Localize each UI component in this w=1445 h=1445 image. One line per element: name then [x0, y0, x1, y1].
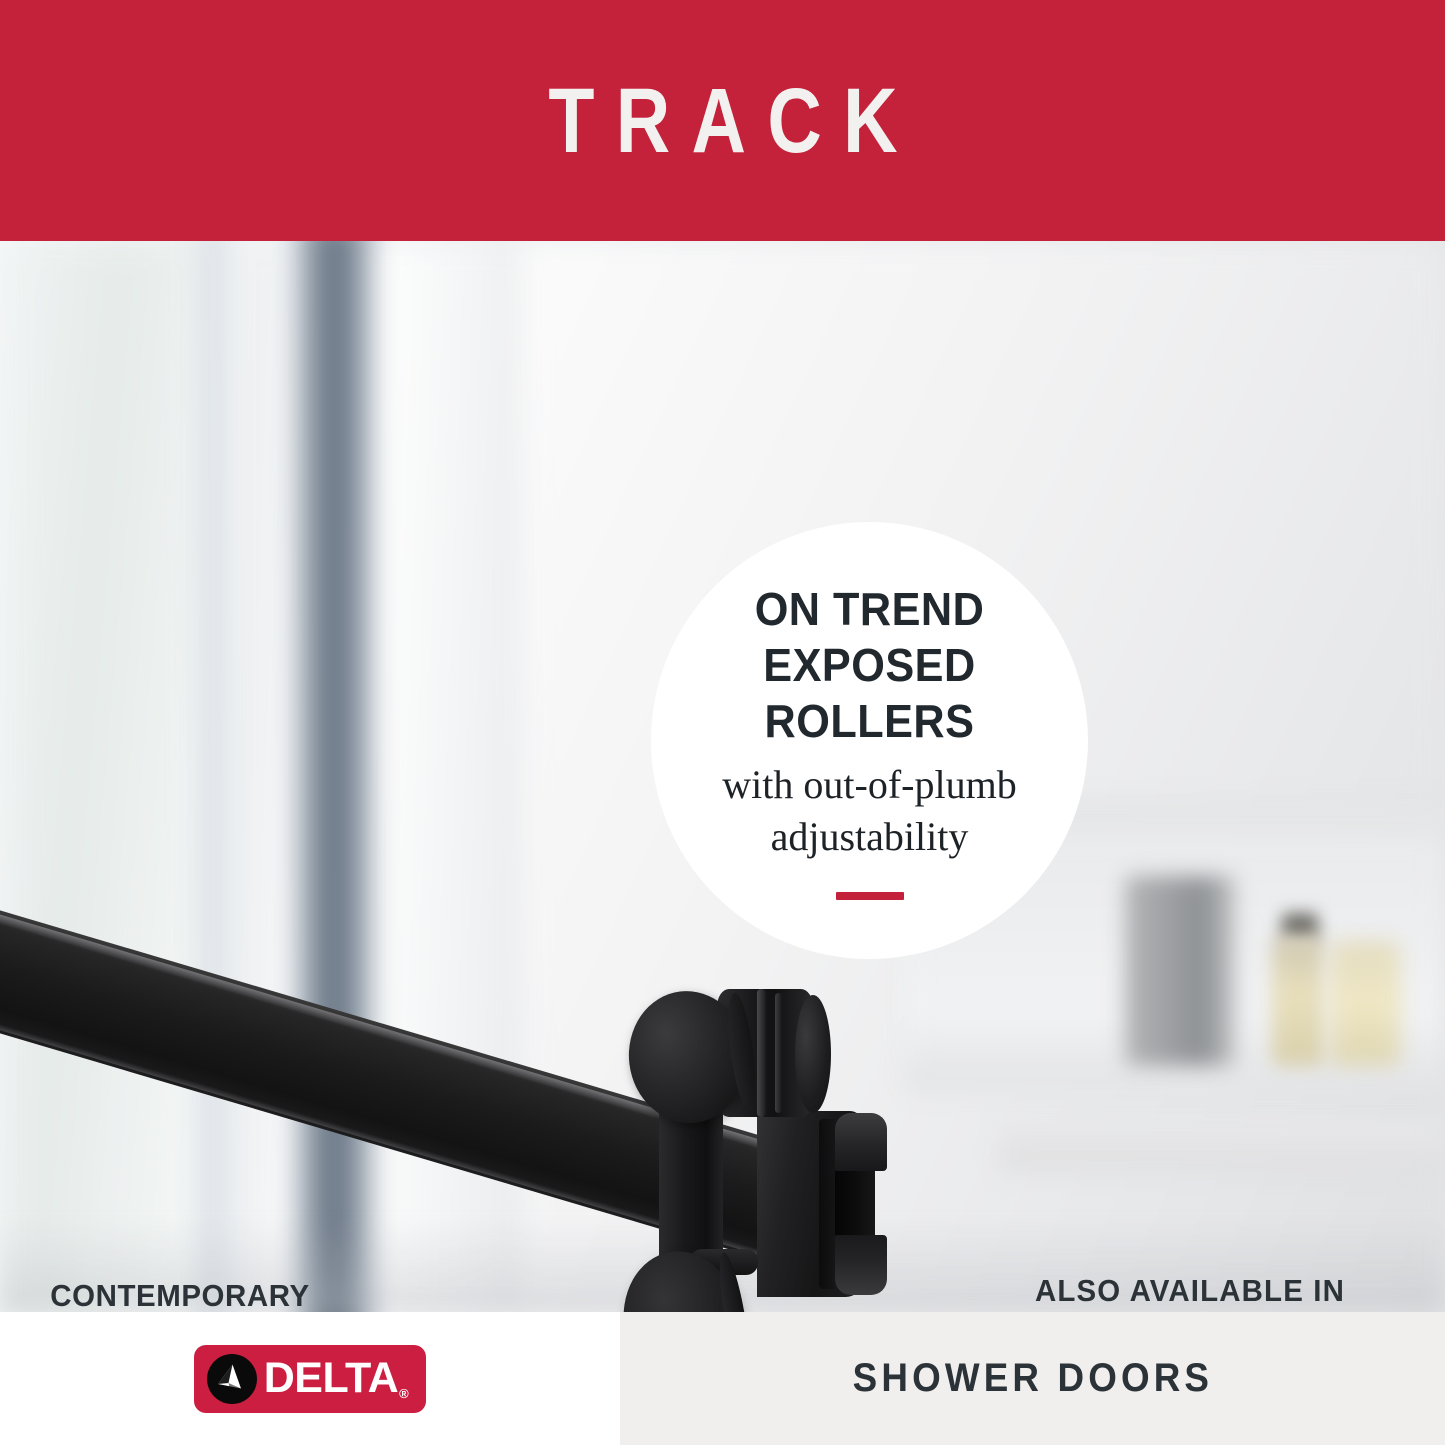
header-band: TRACK	[0, 0, 1445, 241]
track-channel-lip-bottom	[835, 1235, 887, 1295]
callout-subtext-line2: adjustability	[722, 811, 1016, 862]
callout-headline: ON TREND EXPOSED ROLLERS	[700, 581, 1039, 749]
product-card: TRACK	[0, 0, 1445, 1445]
footer: DELTA® SHOWER DOORS	[0, 1312, 1445, 1445]
footer-brand-area: DELTA®	[0, 1312, 620, 1445]
background-counter	[1000, 1121, 1445, 1171]
delta-registered-mark: ®	[399, 1386, 408, 1401]
callout-headline-line1: ON TREND	[700, 581, 1039, 637]
product-caption-line1: CONTEMPORARY	[42, 1276, 318, 1312]
track-channel-end	[757, 1111, 905, 1297]
track-channel-lip-top	[835, 1113, 887, 1171]
roller-hub-ring-outer	[757, 989, 766, 1117]
footer-tagline-area: SHOWER DOORS	[620, 1312, 1445, 1445]
callout-headline-line2: EXPOSED ROLLERS	[700, 637, 1039, 749]
finish-options-title: ALSO AVAILABLE IN	[972, 1273, 1409, 1309]
product-photo: ON TREND EXPOSED ROLLERS with out-of-plu…	[0, 241, 1445, 1312]
delta-wordmark: DELTA®	[264, 1357, 409, 1400]
delta-wordmark-text: DELTA	[264, 1354, 398, 1402]
page-title: TRACK	[527, 75, 919, 167]
background-bottle-b	[1330, 941, 1400, 1066]
finish-options: ALSO AVAILABLE IN CHROME BRUSHED NICKEL …	[960, 1273, 1420, 1312]
delta-logo[interactable]: DELTA®	[194, 1345, 427, 1413]
delta-triangle-icon	[207, 1354, 257, 1404]
footer-tagline: SHOWER DOORS	[852, 1356, 1212, 1401]
roller-hub-ring-inner	[775, 993, 782, 1113]
background-canister	[1125, 876, 1235, 1066]
callout-subtext-line1: with out-of-plumb	[722, 759, 1016, 810]
roller-hub-cap	[795, 995, 831, 1113]
track-channel-groove	[835, 1167, 875, 1239]
callout-divider-rule	[836, 892, 904, 900]
callout-subtext: with out-of-plumb adjustability	[722, 759, 1016, 861]
product-caption: CONTEMPORARY TRACK IN MATTE BLACK	[42, 1276, 318, 1312]
background-bottle-a	[1272, 936, 1324, 1066]
feature-callout: ON TREND EXPOSED ROLLERS with out-of-plu…	[651, 522, 1088, 959]
